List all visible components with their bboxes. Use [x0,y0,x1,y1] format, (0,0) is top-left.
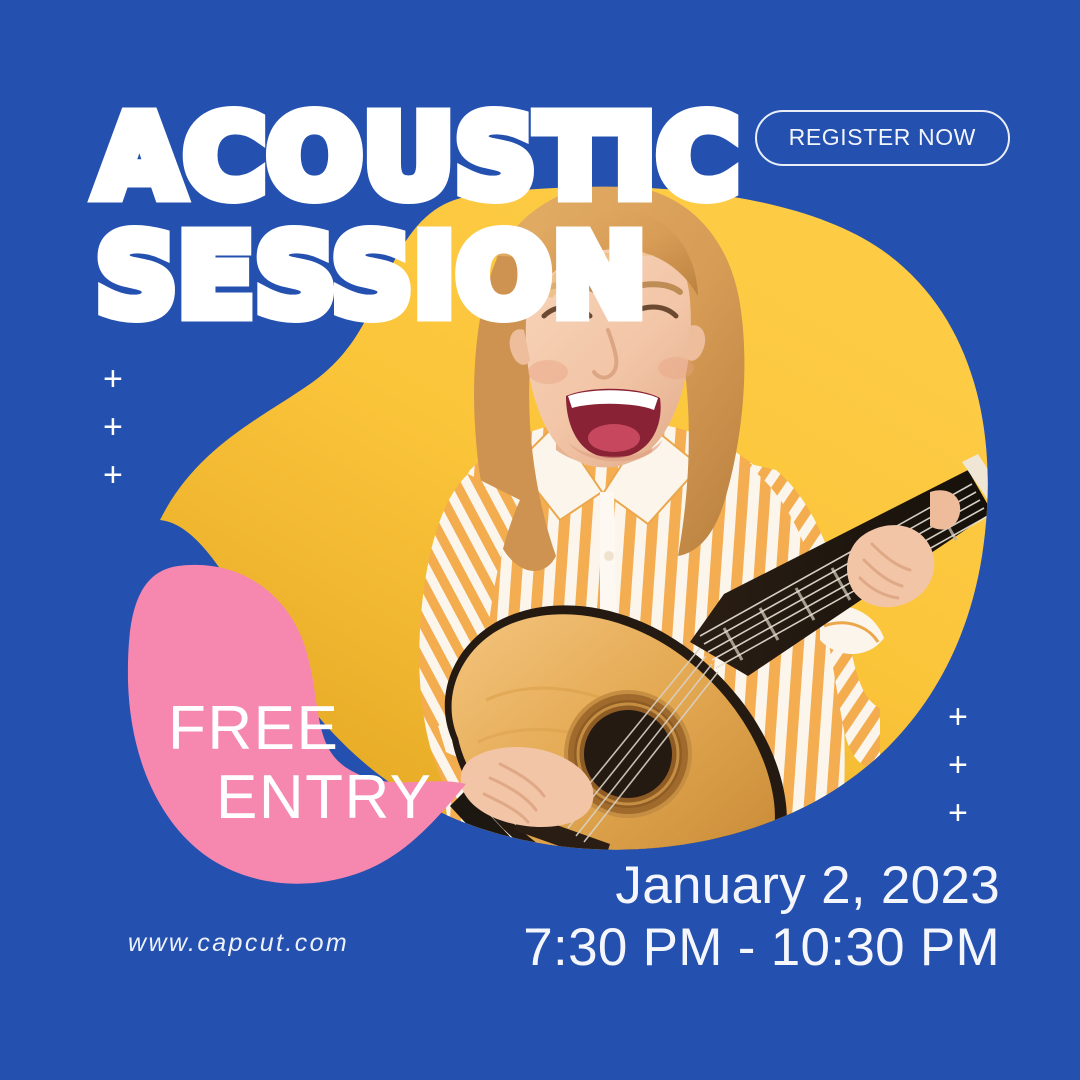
free-entry-badge: FREE ENTRY [168,694,433,833]
plus-icon-right-2: + [948,748,968,782]
poster-canvas: ACOUSTIC SESSION REGISTER NOW FREE ENTRY… [0,0,1080,1080]
plus-icon-left-3: + [103,458,123,492]
plus-icon-left-2: + [103,410,123,444]
free-entry-line-2: ENTRY [168,763,433,832]
event-date: January 2, 2023 [523,855,1000,918]
title-line-2: SESSION [96,223,740,332]
register-now-button[interactable]: REGISTER NOW [755,110,1010,166]
plus-icon-right-1: + [948,700,968,734]
poster-title: ACOUSTIC SESSION [96,104,740,331]
free-entry-line-1: FREE [168,694,339,763]
event-datetime: January 2, 2023 7:30 PM - 10:30 PM [523,855,1000,980]
plus-icon-left-1: + [103,362,123,396]
title-line-1: ACOUSTIC [96,104,740,213]
event-time: 7:30 PM - 10:30 PM [523,917,1000,980]
website-url[interactable]: www.capcut.com [128,929,349,958]
plus-icon-right-3: + [948,796,968,830]
